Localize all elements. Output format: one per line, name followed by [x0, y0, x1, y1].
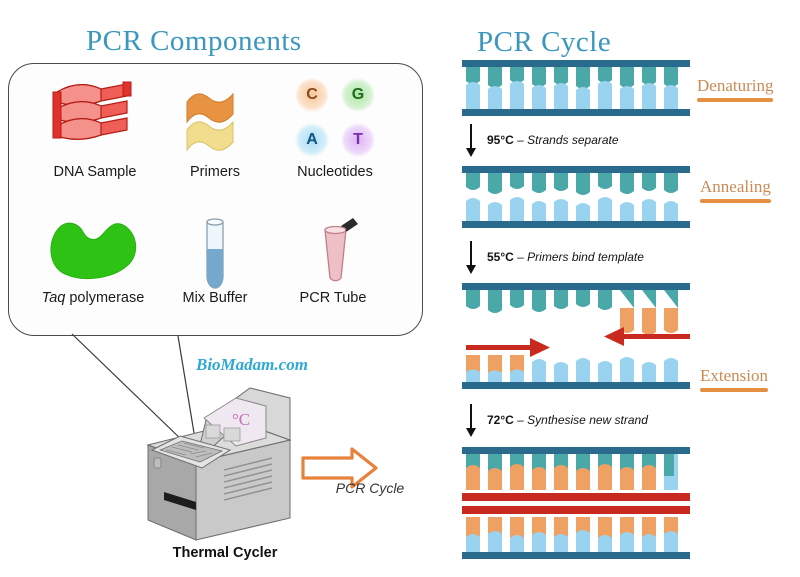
dna-primers-extension — [462, 283, 690, 389]
step-72c: 72°C – Synthesise new strand — [487, 413, 648, 427]
stage-label-annealing: Annealing — [700, 177, 771, 203]
diagram-canvas: PCR Components PCR Cycle DNA Sample — [0, 0, 800, 577]
watermark-biomadam: BioMadam.com — [196, 355, 308, 375]
down-arrow-3-icon — [465, 404, 479, 438]
pointer-line-left — [72, 334, 186, 444]
thermal-cycler-label: Thermal Cycler — [100, 545, 350, 561]
page-title-cycle: PCR Cycle — [477, 26, 611, 59]
down-arrow-1-icon — [465, 124, 479, 158]
dna-strands-annealing — [462, 166, 690, 228]
polymerase-bar-upper — [462, 493, 690, 501]
pcr-cycle-arrow-label: PCR Cycle — [300, 480, 440, 496]
polymerase-bar-lower — [462, 506, 690, 514]
dna-duplex-denaturing — [462, 60, 690, 116]
thermal-cycler-machine: °C — [148, 388, 290, 540]
pointer-line-right — [178, 336, 196, 445]
dna-new-strands-synthesised — [462, 447, 690, 559]
step-55c: 55°C – Primers bind template — [487, 250, 644, 264]
step-95c: 95°C – Strands separate — [487, 133, 619, 147]
down-arrow-2-icon — [465, 241, 479, 275]
cycler-display-text: °C — [232, 410, 250, 429]
polymerase-arrow-right — [466, 338, 550, 357]
stage-label-extension: Extension — [700, 366, 768, 392]
stage-label-denaturing: Denaturing — [697, 76, 773, 102]
